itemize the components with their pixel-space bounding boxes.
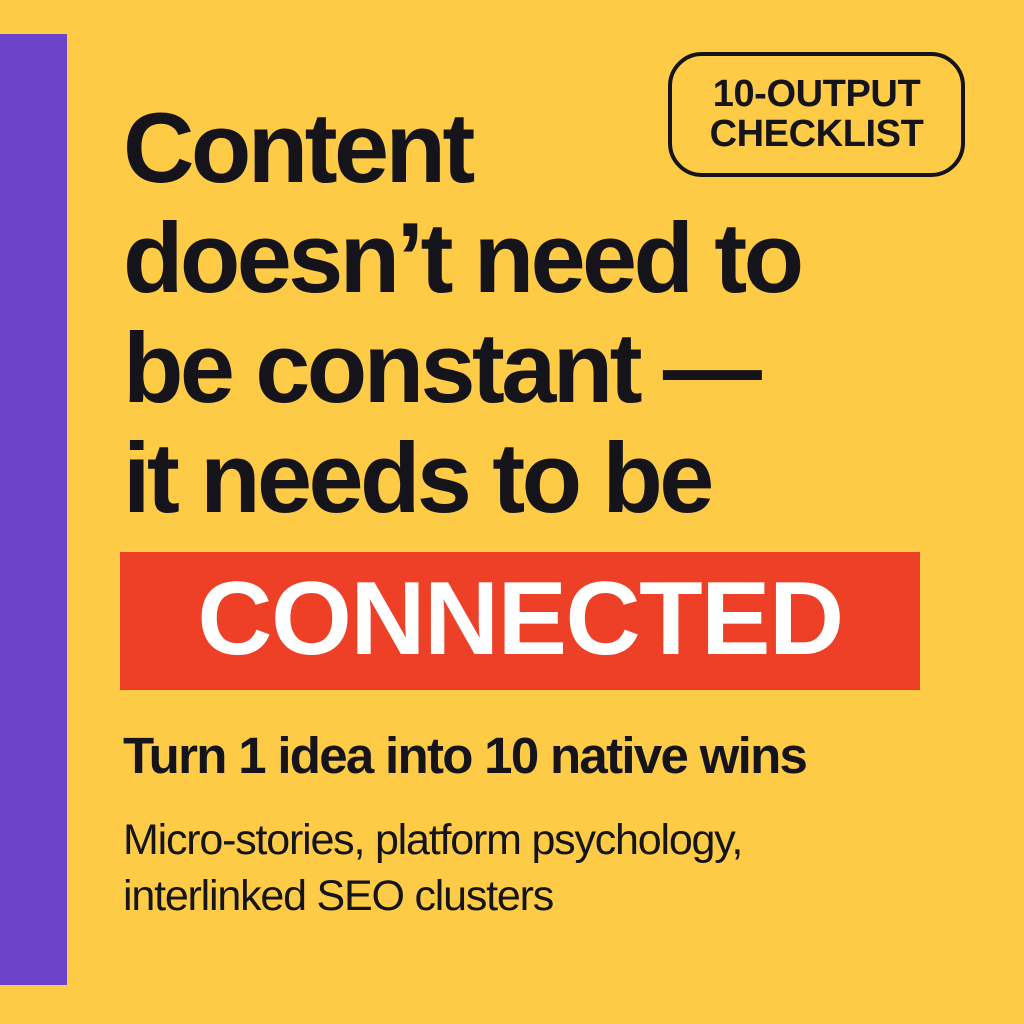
headline-line-1: Content xyxy=(123,93,953,203)
promo-poster: 10-OUTPUT CHECKLIST Content doesn’t need… xyxy=(0,0,1024,1024)
purple-accent-bar xyxy=(0,34,67,985)
body-copy: Micro-stories, platform psychology, inte… xyxy=(123,812,943,924)
headline-line-3: be constant — xyxy=(123,313,953,423)
body-copy-line-2: interlinked SEO clusters xyxy=(123,868,943,924)
highlight-bar: CONNECTED xyxy=(120,552,920,690)
subheadline: Turn 1 idea into 10 native wins xyxy=(123,727,806,785)
headline-line-4: it needs to be xyxy=(123,423,953,533)
body-copy-line-1: Micro-stories, platform psychology, xyxy=(123,812,943,868)
highlight-word: CONNECTED xyxy=(197,567,842,671)
headline-line-2: doesn’t need to xyxy=(123,203,953,313)
headline: Content doesn’t need to be constant — it… xyxy=(123,93,953,533)
